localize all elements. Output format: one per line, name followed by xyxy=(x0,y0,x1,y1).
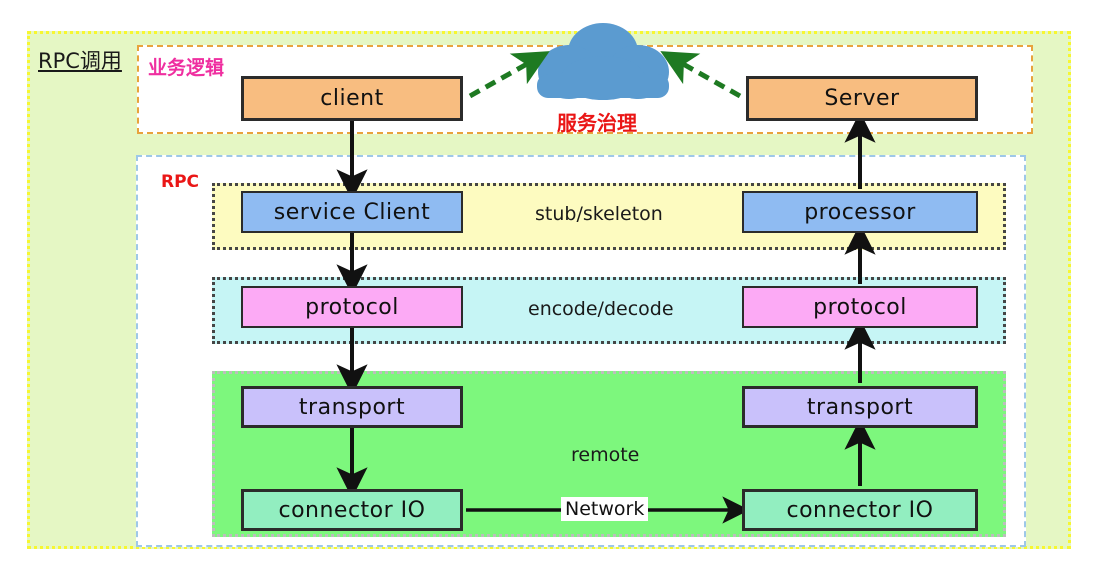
diagram-canvas: RPC调用 业务逻辑 RPC stub/skeleton encode/deco… xyxy=(0,0,1098,578)
cloud-icon xyxy=(528,22,678,100)
node-connector-io-server[interactable]: connector IO xyxy=(742,489,978,531)
node-client[interactable]: client xyxy=(241,76,463,121)
region-rpc-invocation-label: RPC调用 xyxy=(38,45,122,75)
node-service-client[interactable]: service Client xyxy=(241,191,463,233)
band-caption-remote: remote xyxy=(571,444,639,466)
node-transport-client[interactable]: transport xyxy=(241,386,463,428)
service-governance-label: 服务治理 xyxy=(557,107,637,136)
node-protocol-server[interactable]: protocol xyxy=(742,286,978,328)
region-rpc-label: RPC xyxy=(161,172,199,192)
network-label: Network xyxy=(561,497,648,521)
band-caption-stub-skeleton: stub/skeleton xyxy=(535,203,663,225)
node-processor[interactable]: processor xyxy=(742,191,978,233)
node-connector-io-client[interactable]: connector IO xyxy=(241,489,463,531)
band-caption-encode-decode: encode/decode xyxy=(528,298,674,320)
region-business-logic-label: 业务逻辑 xyxy=(148,53,224,80)
node-transport-server[interactable]: transport xyxy=(742,386,978,428)
node-server[interactable]: Server xyxy=(746,76,978,121)
node-protocol-client[interactable]: protocol xyxy=(241,286,463,328)
